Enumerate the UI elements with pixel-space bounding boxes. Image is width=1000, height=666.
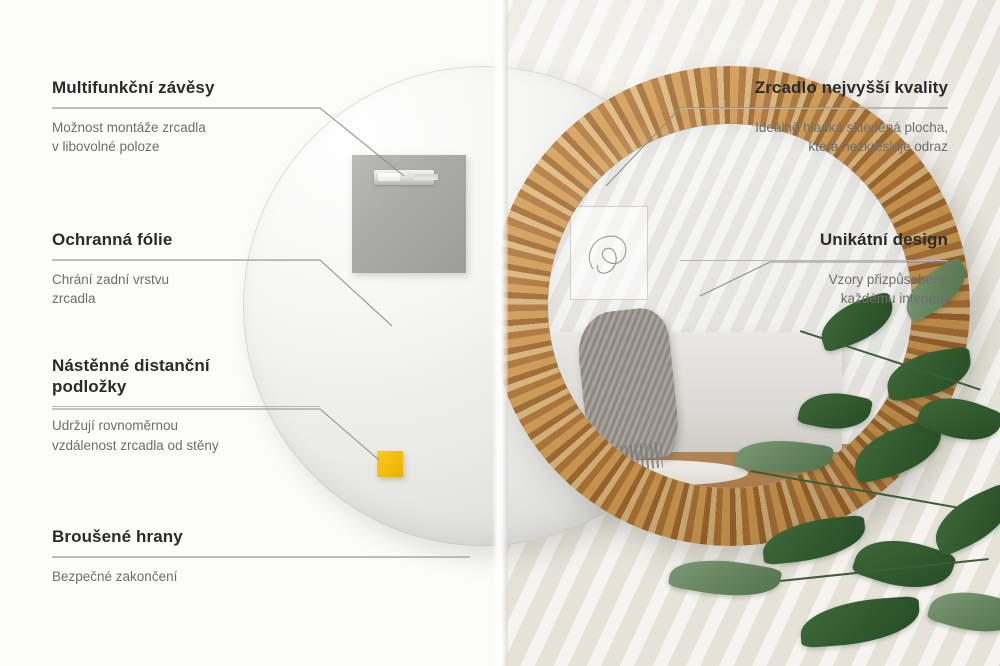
- infographic-canvas: Multifunkční závěsy Možnost montáže zrca…: [0, 0, 1000, 666]
- desc-line-1: Vzory přizpůsobené: [829, 272, 948, 287]
- desc-line-2: která nezkresluje odraz: [808, 139, 948, 154]
- callout-title: Unikátní design: [680, 230, 948, 251]
- desc-line-2: vzdálenost zrcadla od stěny: [52, 438, 219, 453]
- callout-title: Zrcadlo nejvyšší kvality: [680, 78, 948, 99]
- desc-line-1: Ideálně hladká skleněná plocha,: [755, 120, 948, 135]
- desc-line-2: v libovolné poloze: [52, 139, 159, 154]
- callout-description: Udržují rovnoměrnou vzdálenost zrcadla o…: [52, 416, 320, 454]
- leaf: [799, 596, 922, 648]
- callout-ochranna-folie: Ochranná fólie Chrání zadní vrstvu zrcad…: [52, 230, 320, 308]
- callout-brousene-hrany: Broušené hrany Bezpečné zakončení: [52, 527, 470, 586]
- callout-rule: [680, 108, 948, 109]
- callout-unikatni-design: Unikátní design Vzory přizpůsobené každé…: [680, 230, 948, 308]
- line-art-icon: [571, 207, 647, 299]
- desc-line-2: každému interiéru: [841, 291, 948, 306]
- callout-rule: [680, 260, 948, 261]
- wall-spacer-pad: [377, 451, 403, 477]
- desc-line-2: zrcadla: [52, 291, 96, 306]
- reflected-line-art-frame: [570, 206, 648, 300]
- desc-line-1: Udržují rovnoměrnou: [52, 418, 178, 433]
- callout-nastenne-distancni-podlozky: Nástěnné distanční podložky Udržují rovn…: [52, 356, 320, 455]
- hanger-slot-icon: [414, 174, 438, 180]
- callout-rule: [52, 108, 320, 109]
- callout-rule: [52, 260, 320, 261]
- callout-multifunkcni-zavesy: Multifunkční závěsy Možnost montáže zrca…: [52, 78, 320, 156]
- callout-title: Multifunkční závěsy: [52, 78, 320, 99]
- callout-description: Možnost montáže zrcadla v libovolné polo…: [52, 118, 320, 156]
- callout-zrcadlo-nejvyssi-kvality: Zrcadlo nejvyšší kvality Ideálně hladká …: [680, 78, 948, 156]
- leaf: [925, 482, 1000, 557]
- callout-rule: [52, 406, 320, 407]
- callout-description: Bezpečné zakončení: [52, 567, 470, 586]
- title-line-1: Nástěnné distanční: [52, 356, 210, 375]
- callout-title: Nástěnné distanční podložky: [52, 356, 320, 397]
- title-line-2: podložky: [52, 377, 126, 396]
- callout-description: Vzory přizpůsobené každému interiéru: [680, 270, 948, 308]
- desc-line-1: Možnost montáže zrcadla: [52, 120, 206, 135]
- leaf: [926, 580, 1000, 643]
- desc-line-1: Chrání zadní vrstvu: [52, 272, 169, 287]
- callout-description: Ideálně hladká skleněná plocha, která ne…: [680, 118, 948, 156]
- callout-title: Ochranná fólie: [52, 230, 320, 251]
- desc-line-1: Bezpečné zakončení: [52, 569, 177, 584]
- callout-description: Chrání zadní vrstvu zrcadla: [52, 270, 320, 308]
- callout-title: Broušené hrany: [52, 527, 470, 548]
- callout-rule: [52, 557, 470, 558]
- panel-seam: [492, 0, 508, 666]
